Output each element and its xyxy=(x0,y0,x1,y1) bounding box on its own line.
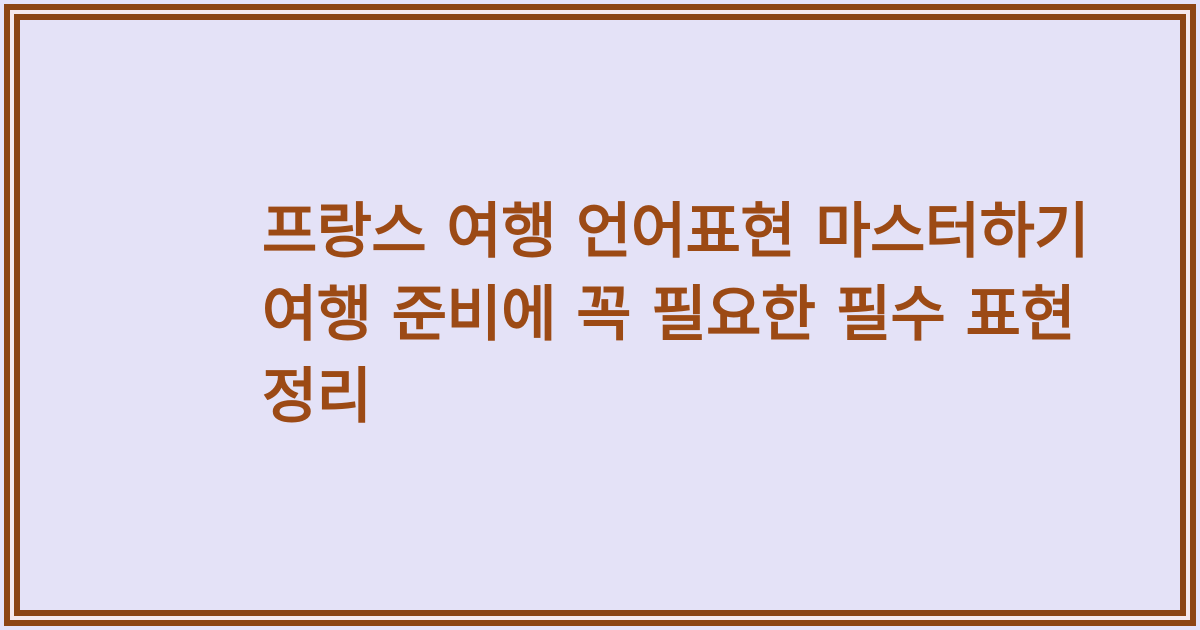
outer-frame-border: 프랑스 여행 언어표현 마스터하기 여행 준비에 꼭 필요한 필수 표현 정리 xyxy=(4,4,1196,626)
title-block: 프랑스 여행 언어표현 마스터하기 여행 준비에 꼭 필요한 필수 표현 정리 xyxy=(20,191,1180,439)
inner-frame-border: 프랑스 여행 언어표현 마스터하기 여행 준비에 꼭 필요한 필수 표현 정리 xyxy=(14,14,1186,616)
page-title: 프랑스 여행 언어표현 마스터하기 여행 준비에 꼭 필요한 필수 표현 정리 xyxy=(262,191,1140,439)
poster-canvas: 프랑스 여행 언어표현 마스터하기 여행 준비에 꼭 필요한 필수 표현 정리 xyxy=(0,0,1200,630)
